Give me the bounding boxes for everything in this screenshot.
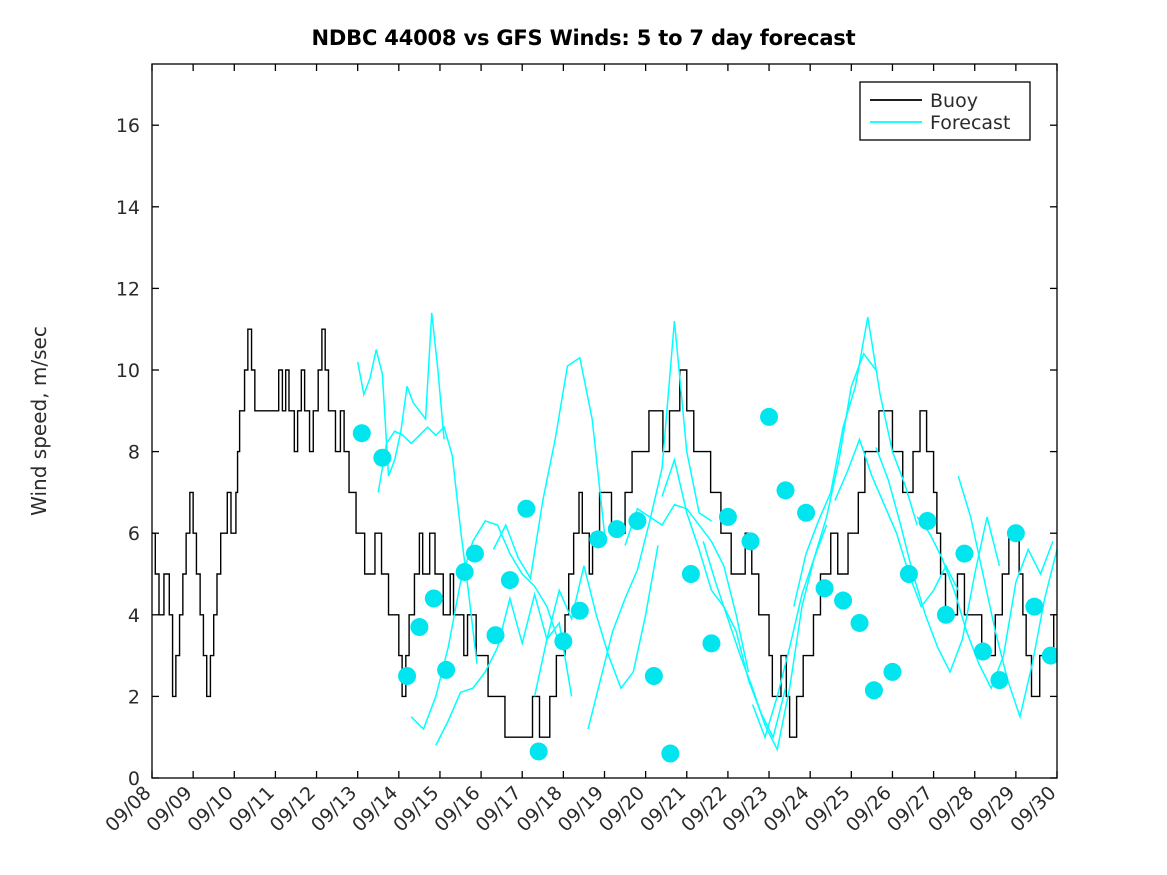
y-tick-label: 2 [128, 686, 140, 708]
y-tick-label: 4 [128, 605, 140, 627]
y-tick-label: 14 [116, 197, 140, 219]
scatter-point [398, 667, 416, 685]
x-tick-label: 09/20 [595, 782, 649, 836]
scatter-point [883, 663, 901, 681]
scatter-point [373, 449, 391, 467]
scatter-point [608, 520, 626, 538]
x-tick-label: 09/28 [924, 782, 978, 836]
x-tick-label: 09/21 [636, 782, 690, 836]
scatter-point [865, 681, 883, 699]
wind-speed-chart: 024681012141609/0809/0909/1009/1109/1209… [0, 0, 1167, 875]
legend-label-buoy: Buoy [930, 90, 978, 112]
scatter-point [719, 508, 737, 526]
scatter-point [1007, 524, 1025, 542]
scatter-point [425, 589, 443, 607]
scatter-point [955, 545, 973, 563]
x-tick-label: 09/24 [759, 782, 813, 836]
scatter-point [834, 592, 852, 610]
x-tick-label: 09/25 [801, 782, 855, 836]
x-tick-label: 09/29 [965, 782, 1019, 836]
x-tick-label: 09/22 [677, 782, 731, 836]
scatter-point [456, 563, 474, 581]
x-tick-label: 09/10 [184, 782, 238, 836]
y-tick-label: 12 [116, 278, 140, 300]
x-tick-label: 09/26 [842, 782, 896, 836]
x-tick-label: 09/19 [554, 782, 608, 836]
scatter-point [900, 565, 918, 583]
scatter-point [937, 606, 955, 624]
scatter-point [410, 618, 428, 636]
scatter-point [530, 742, 548, 760]
x-tick-label: 09/08 [101, 782, 155, 836]
x-tick-label: 09/17 [471, 782, 525, 836]
scatter-point [486, 626, 504, 644]
scatter-point [589, 530, 607, 548]
x-tick-label: 09/09 [142, 782, 196, 836]
scatter-point [554, 632, 572, 650]
y-axis-title: Wind speed, m/sec [27, 326, 51, 516]
scatter-point [816, 579, 834, 597]
x-tick-label: 09/30 [1006, 782, 1060, 836]
scatter-point [974, 643, 992, 661]
x-tick-label: 09/11 [225, 782, 279, 836]
x-tick-label: 09/18 [513, 782, 567, 836]
legend: BuoyForecast [860, 82, 1030, 140]
scatter-point [571, 602, 589, 620]
scatter-point [517, 500, 535, 518]
x-tick-label: 09/15 [389, 782, 443, 836]
scatter-point [661, 745, 679, 763]
scatter-point [797, 504, 815, 522]
scatter-point [353, 424, 371, 442]
scatter-point [742, 532, 760, 550]
y-tick-label: 6 [128, 523, 140, 545]
legend-label-forecast: Forecast [930, 112, 1010, 134]
x-tick-label: 09/27 [883, 782, 937, 836]
x-tick-label: 09/13 [307, 782, 361, 836]
scatter-point [702, 634, 720, 652]
scatter-point [760, 408, 778, 426]
x-tick-label: 09/23 [718, 782, 772, 836]
scatter-point [851, 614, 869, 632]
scatter-point [628, 512, 646, 530]
x-tick-label: 09/12 [266, 782, 320, 836]
scatter-point [645, 667, 663, 685]
y-tick-label: 10 [116, 360, 140, 382]
chart-figure: NDBC 44008 vs GFS Winds: 5 to 7 day fore… [0, 0, 1167, 875]
plot-background [152, 64, 1057, 778]
scatter-point [1025, 598, 1043, 616]
scatter-point [501, 571, 519, 589]
scatter-point [990, 671, 1008, 689]
x-tick-label: 09/16 [430, 782, 484, 836]
scatter-point [918, 512, 936, 530]
scatter-point [466, 545, 484, 563]
y-tick-label: 16 [116, 115, 140, 137]
scatter-point [682, 565, 700, 583]
x-tick-label: 09/14 [348, 782, 402, 836]
scatter-point [437, 661, 455, 679]
y-tick-label: 8 [128, 442, 140, 464]
scatter-point [777, 481, 795, 499]
